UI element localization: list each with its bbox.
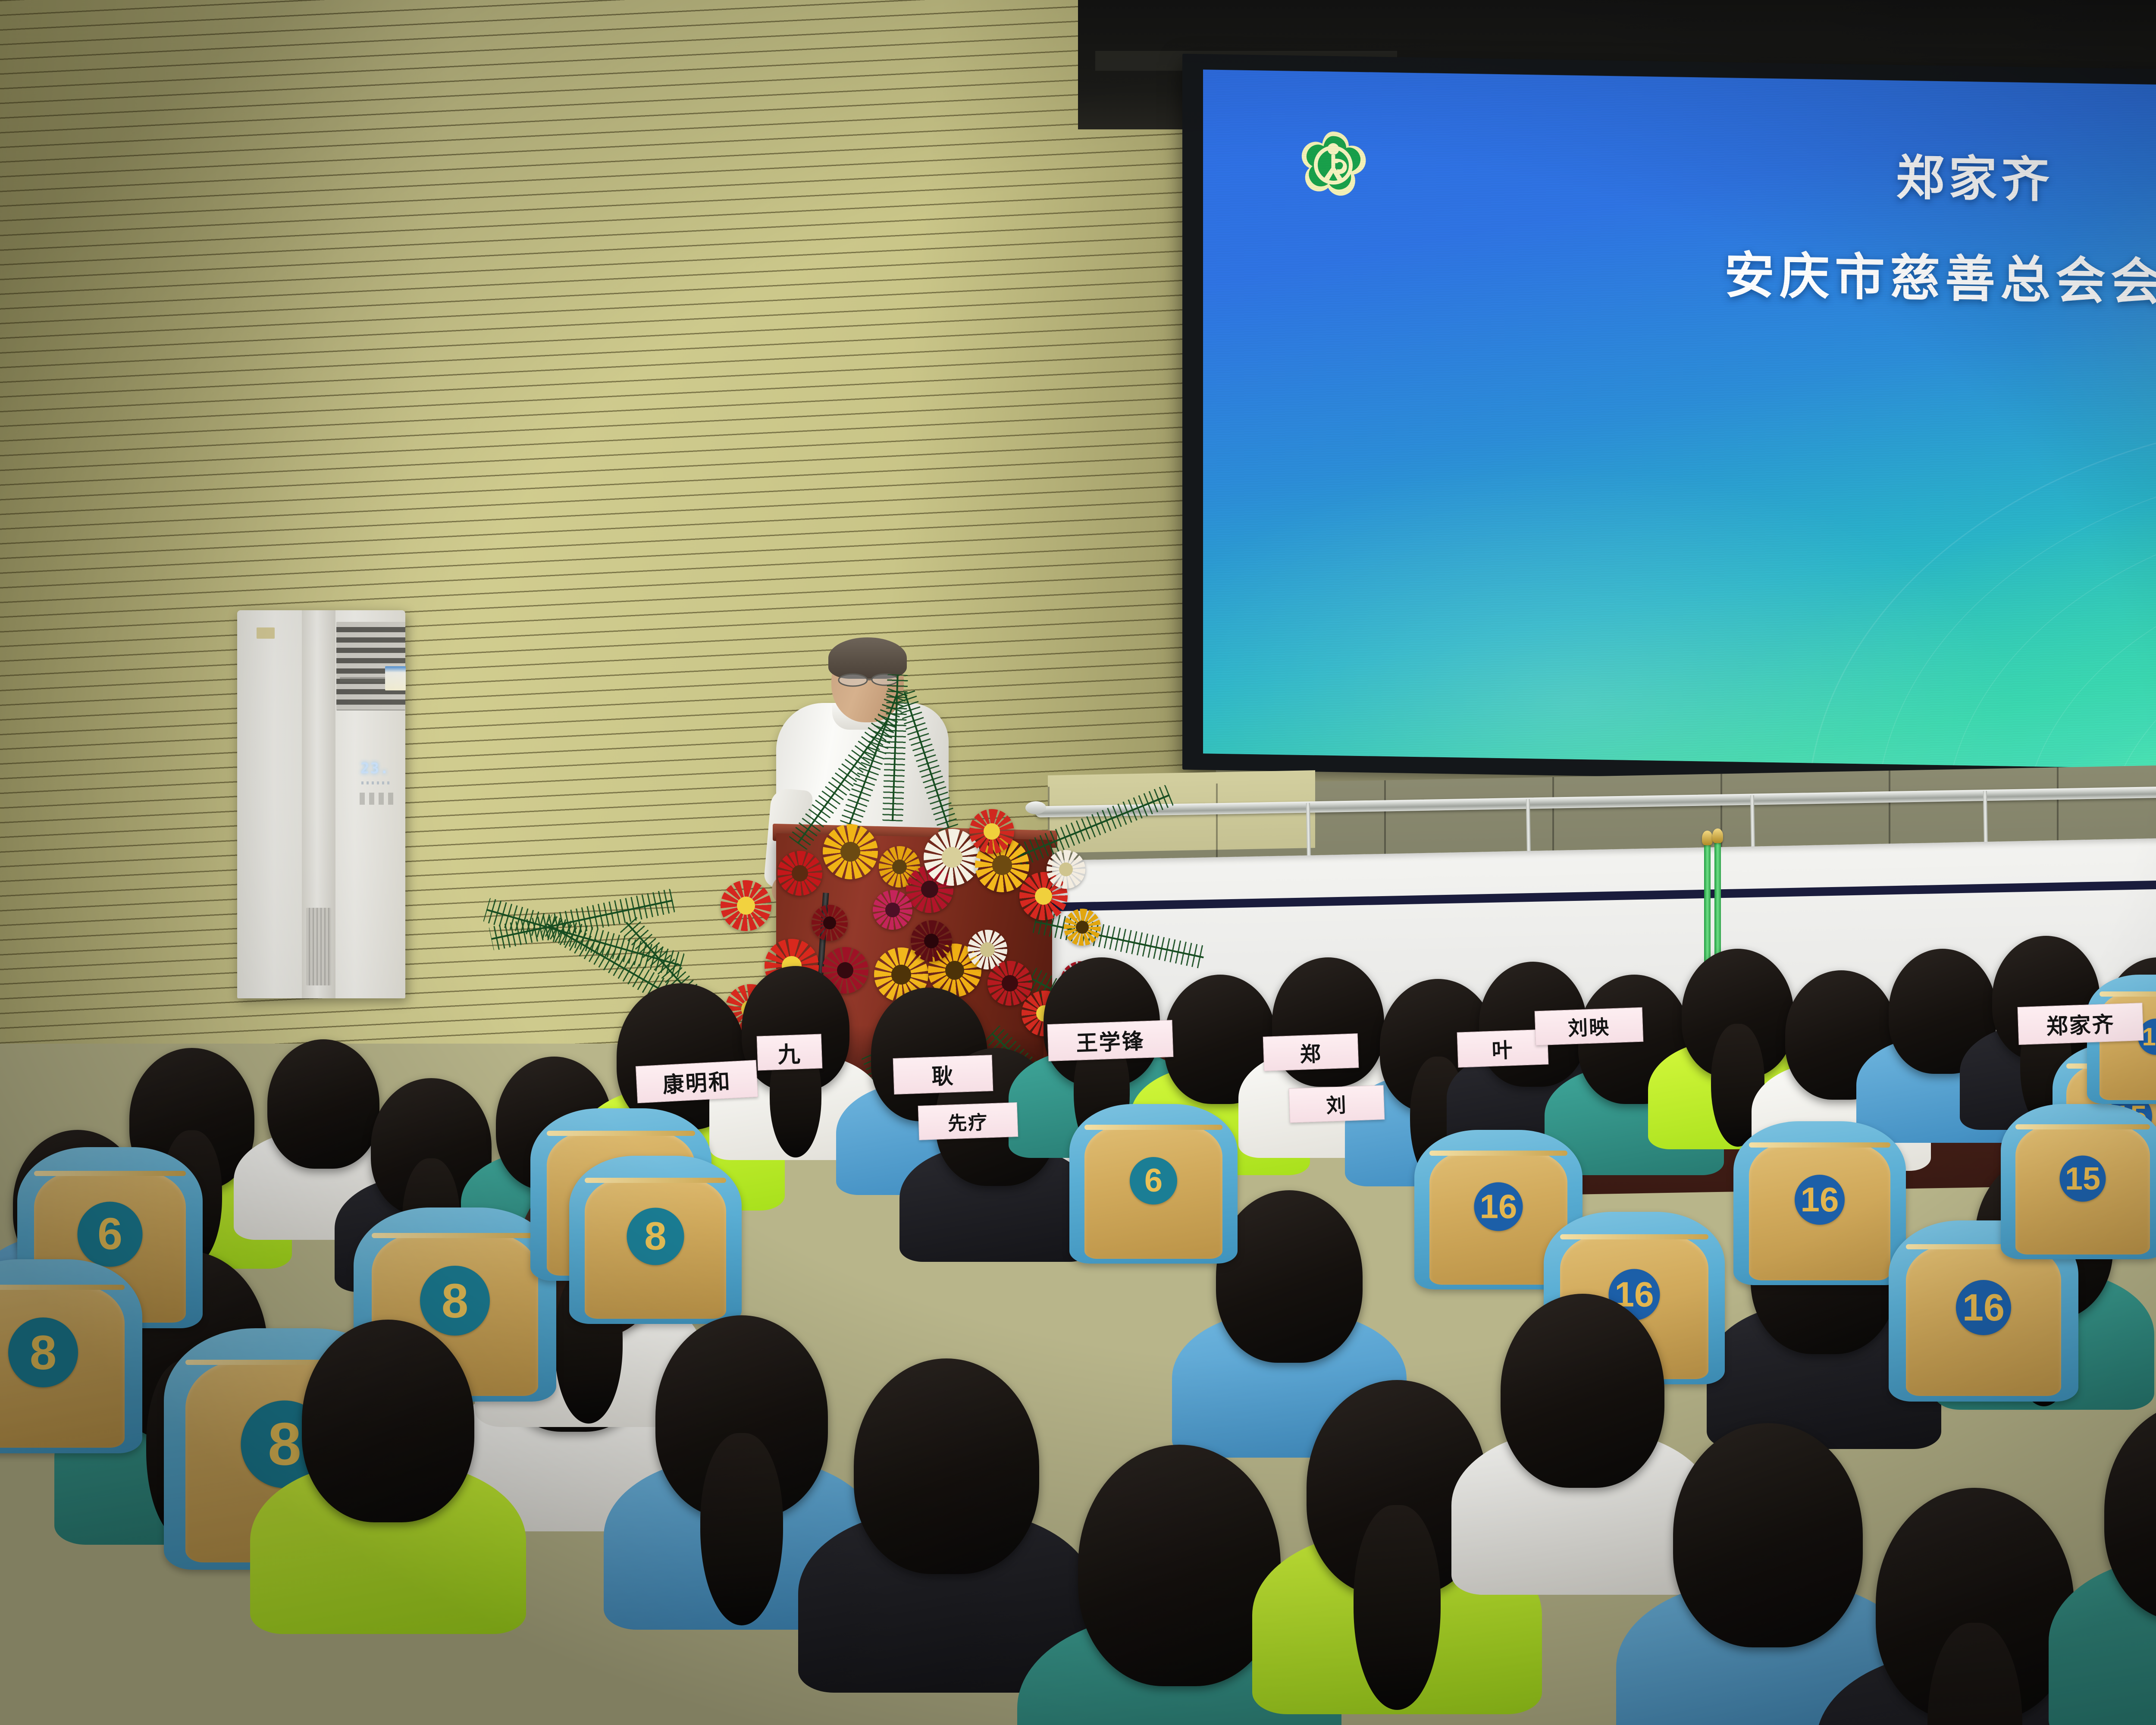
seat-number-badge: 6 (78, 1201, 143, 1267)
audience-member-ponytail (1354, 1505, 1441, 1710)
audience-member-head (1216, 1190, 1363, 1363)
seat-name-placard: 刘映 (1535, 1007, 1644, 1046)
auditorium-seat[interactable]: 8 (0, 1259, 142, 1453)
seat-gold-trim (1429, 1151, 1567, 1156)
seat-name-placard: 刘 (1289, 1085, 1385, 1123)
seat-number-badge: 8 (627, 1208, 684, 1265)
seat-gold-trim (1749, 1142, 1890, 1148)
seat-number-badge: 16 (1795, 1175, 1845, 1225)
seat-number-badge: 8 (420, 1266, 490, 1336)
flower-bloom (1047, 850, 1085, 889)
seat-number-badge: 16 (1956, 1280, 2011, 1335)
ac-brand-mark (340, 677, 387, 682)
audience-member-ponytail (700, 1433, 783, 1626)
ac-control-buttons[interactable] (360, 793, 395, 805)
projection-screen: 郑家齐 安庆市慈善总会会长 (1203, 69, 2156, 775)
flower-bloom (911, 920, 952, 962)
flower-bloom (812, 905, 848, 941)
auditorium-seat[interactable]: 6 (1069, 1104, 1238, 1264)
ac-energy-label (385, 666, 406, 690)
banner-pole-finial-left (1702, 831, 1713, 845)
audience-member-head (854, 1358, 1039, 1574)
seat-number-badge: 16 (1474, 1182, 1523, 1231)
audience-member-head (1078, 1445, 1281, 1686)
ac-lower-vents (306, 908, 331, 985)
auditorium-seat[interactable]: 16 (1733, 1121, 1906, 1285)
seat-number-badge: 15 (2060, 1155, 2106, 1201)
seat-name-placard: 九 (757, 1034, 823, 1070)
seat-name-placard: 郑家齐 (2018, 1003, 2144, 1045)
audience-member-head (1501, 1294, 1664, 1488)
seat-gold-trim (2100, 991, 2156, 997)
ac-temperature-display: 23. (360, 761, 397, 776)
auditorium-seat[interactable]: 8 (569, 1156, 742, 1324)
audience-member-head (267, 1039, 379, 1169)
seat-number-badge: 6 (1130, 1157, 1177, 1204)
ac-logo-sticker (257, 627, 275, 639)
auditorium-photo: 郑家齐 安庆市慈善总会会长 23. (0, 0, 2156, 1725)
seat-name-placard: 康明和 (636, 1060, 758, 1104)
seat-name-placard: 叶 (1457, 1029, 1549, 1067)
banner-pole-finial-right (1712, 828, 1723, 843)
flower-bloom (777, 851, 822, 896)
flower-bloom (721, 880, 771, 931)
seat-name-placard: 耿 (893, 1055, 993, 1095)
seat-name-placard: 郑 (1263, 1033, 1359, 1071)
audience-member-head (302, 1320, 474, 1522)
seat-gold-trim (0, 1285, 125, 1290)
auditorium-seat[interactable]: 15 (2001, 1104, 2156, 1259)
flower-bloom (873, 890, 912, 930)
seat-gold-trim (2015, 1124, 2150, 1129)
seat-gold-trim (1084, 1125, 1222, 1130)
ac-indicator-dots (361, 781, 392, 784)
flower-bloom (823, 824, 878, 879)
seat-gold-trim (547, 1131, 695, 1136)
seat-gold-trim (1560, 1234, 1708, 1239)
seat-gold-trim (372, 1233, 538, 1238)
flower-bloom (969, 809, 1014, 854)
seat-gold-trim (34, 1171, 186, 1176)
flower-bloom (987, 961, 1032, 1006)
seat-number-badge: 8 (8, 1317, 78, 1387)
screen-scanlines (1203, 69, 2156, 775)
seat-gold-trim (585, 1178, 726, 1183)
seat-name-placard: 王学锋 (1047, 1020, 1174, 1061)
flower-bloom (1064, 909, 1101, 946)
seat-name-placard: 先疗 (918, 1102, 1018, 1140)
audience-member-head (1673, 1423, 1863, 1647)
